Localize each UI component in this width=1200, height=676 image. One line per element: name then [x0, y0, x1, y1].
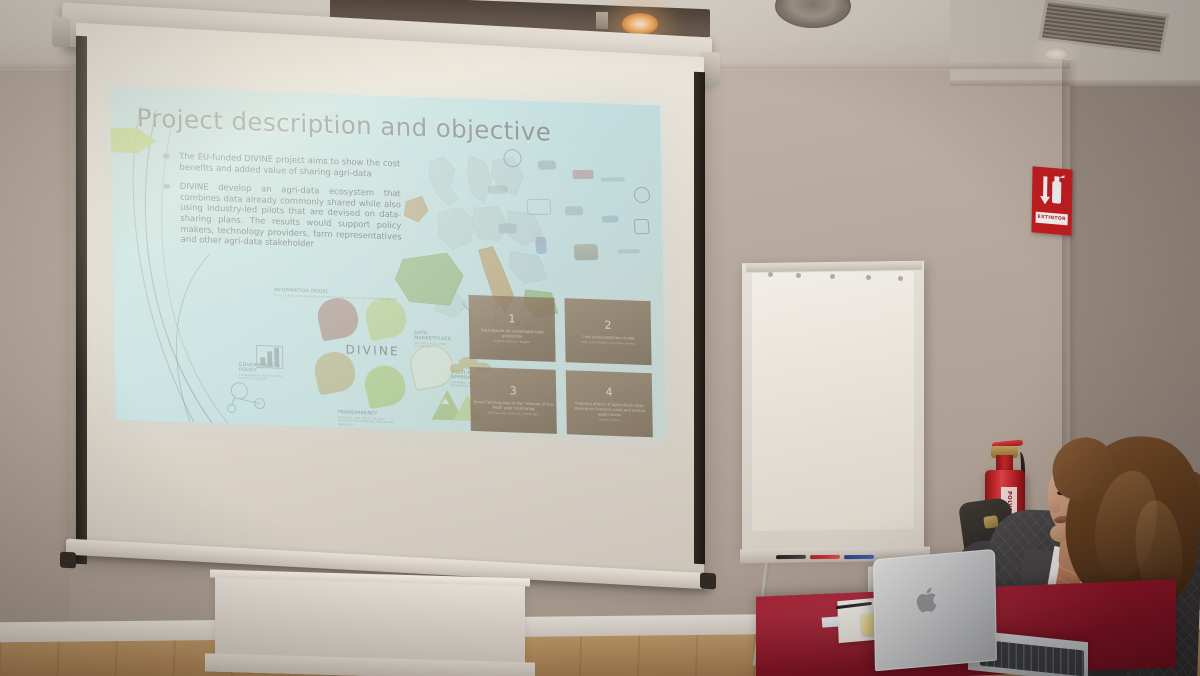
partner-logo-icon [601, 215, 618, 222]
pilot-subtext: Greece, Athens [599, 418, 620, 423]
projected-slide: Project description and objective The EU… [110, 86, 666, 438]
pilot-number: 4 [605, 385, 612, 398]
pilot-number: 2 [604, 318, 611, 331]
screen-bar-cap-left [60, 552, 76, 569]
slide-title: Project description and objective [136, 103, 551, 147]
pilot-card: 3 Smart farming data in the "Internet of… [470, 367, 557, 434]
screen-edge-right [694, 72, 705, 565]
partner-logo-icon [538, 160, 557, 169]
partner-logo-icon [601, 177, 625, 181]
partner-logos-grid [475, 143, 666, 311]
pilot-number: 3 [510, 384, 517, 397]
conference-room-photo: Project description and objective The EU… [0, 0, 1200, 676]
sign-label-box: EXTINTOR [1036, 212, 1068, 226]
partner-logo-icon [526, 199, 551, 215]
extintor-sign: EXTINTOR [1031, 166, 1072, 235]
left-wall [0, 0, 70, 676]
ceiling-spotlight-icon [622, 13, 658, 35]
partner-logo-icon [573, 244, 598, 260]
bullet-text: DIVINE develop an agri-data ecosystem th… [180, 181, 402, 252]
ceiling-downlight-icon [1042, 47, 1070, 61]
pilot-text: Data Spaces for sustainable food product… [472, 327, 552, 340]
partner-logo-icon [498, 223, 517, 233]
partner-logo-icon [634, 219, 650, 234]
pilot-card: 2 Crop yield prediction model Italy, yie… [564, 298, 651, 365]
partner-logo-icon [572, 170, 594, 179]
flipchart-paper [752, 271, 914, 531]
pilot-number: 1 [508, 312, 515, 325]
partner-logo-icon [618, 249, 640, 253]
spotlight-mount [596, 12, 608, 29]
partner-logo-icon [487, 185, 508, 193]
marker-black[interactable] [776, 555, 806, 559]
pilot-text: Potential effects of agricultural data s… [569, 400, 649, 418]
list-item: The EU-funded DIVINE project aims to sho… [163, 150, 400, 179]
flipchart-clip-icon [898, 276, 903, 281]
pilot-card: 4 Potential effects of agricultural data… [566, 370, 653, 437]
screen-edge-left [76, 36, 87, 565]
fire-extinguisher-icon [1037, 170, 1068, 213]
slide-bullet-list: The EU-funded DIVINE project aims to sho… [163, 150, 402, 261]
pilot-subtext: Ireland, Kilkenny, Teagasc [494, 340, 530, 345]
partner-logo-icon [565, 206, 584, 215]
list-item: DIVINE develop an agri-data ecosystem th… [164, 180, 402, 252]
partner-logo-icon [633, 187, 650, 203]
pilot-cards-grid: 1 Data Spaces for sustainable food produ… [469, 295, 656, 438]
bullet-marker-icon [163, 154, 169, 158]
screen-bar-cap-right [700, 573, 716, 590]
partner-logo-icon [535, 237, 547, 254]
flipchart-clip-icon [768, 272, 773, 277]
marker-blue[interactable] [844, 555, 874, 559]
bullet-text: The EU-funded DIVINE project aims to sho… [179, 151, 400, 180]
marker-red[interactable] [810, 555, 840, 559]
sign-label-text: EXTINTOR [1037, 215, 1065, 222]
badge-card [822, 616, 841, 627]
flipchart-clip-icon [866, 275, 871, 280]
pilot-card: 1 Data Spaces for sustainable food produ… [469, 295, 556, 362]
flipchart-clip-icon [830, 274, 835, 279]
apple-logo-icon [915, 585, 941, 615]
pilot-text: Smart farming data in the "Internet of t… [473, 399, 553, 412]
bullet-marker-icon [164, 184, 170, 188]
pilot-subtext: Italy, yield modelling and data sharing [581, 340, 635, 346]
partner-logo-icon [503, 149, 522, 167]
flipchart-clip-icon [796, 273, 801, 278]
screen-case-cap-left [52, 17, 70, 48]
pilot-subtext: Multi-sensory, Kilkenny, Ireland data [488, 412, 539, 418]
